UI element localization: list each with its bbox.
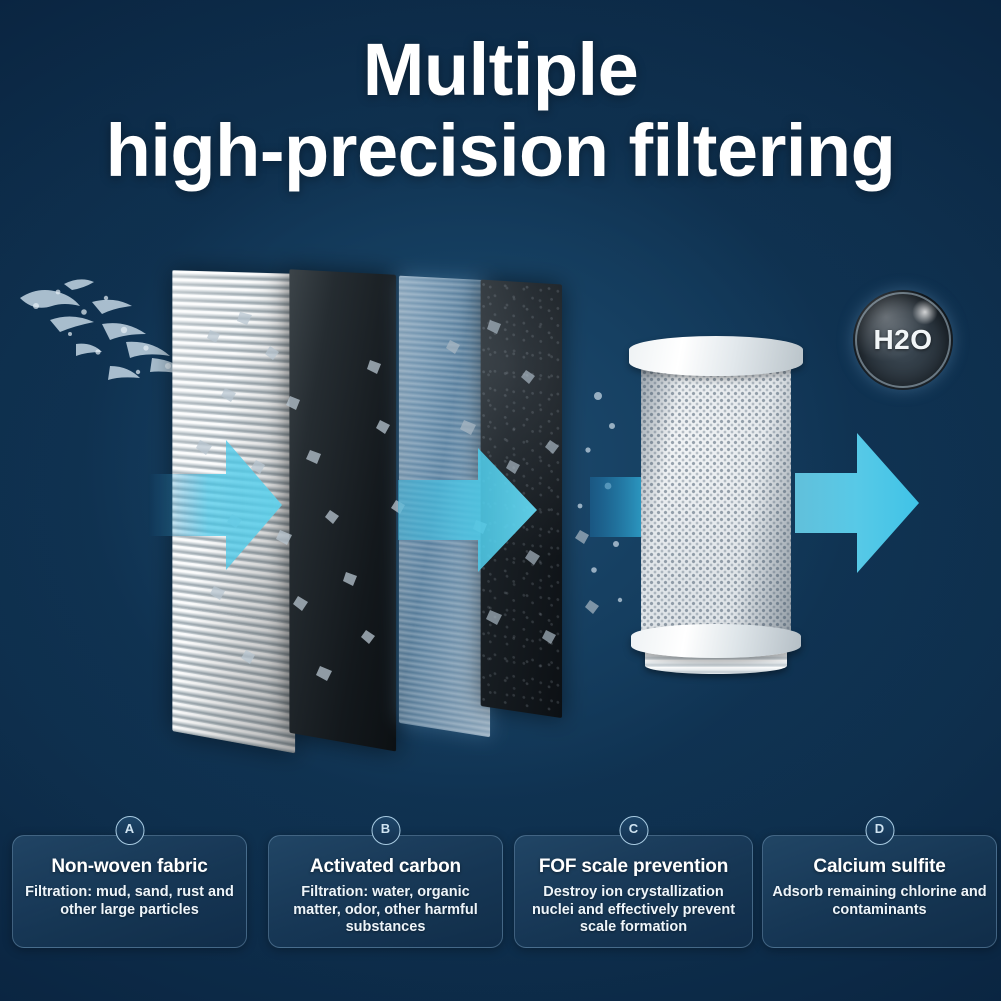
layer-fof-membrane bbox=[399, 276, 490, 738]
card-title-b: Activated carbon bbox=[269, 856, 502, 878]
feature-card-d[interactable]: D Calcium sulfite Adsorb remaining chlor… bbox=[762, 835, 997, 948]
product-infographic: Multiple high-precision filtering bbox=[0, 0, 1001, 1001]
feature-card-c[interactable]: C FOF scale prevention Destroy ion cryst… bbox=[514, 835, 753, 948]
page-title: Multiple high-precision filtering bbox=[0, 34, 1001, 187]
water-droplet-icon: H2O bbox=[853, 290, 953, 390]
card-desc-a: Filtration: mud, sand, rust and other la… bbox=[13, 884, 246, 919]
card-title-d: Calcium sulfite bbox=[763, 856, 996, 878]
feature-card-a[interactable]: A Non-woven fabric Filtration: mud, sand… bbox=[12, 835, 247, 948]
card-badge-c: C bbox=[619, 816, 648, 845]
card-desc-b: Filtration: water, organic matter, odor,… bbox=[269, 884, 502, 937]
layer-activated-carbon-1 bbox=[289, 269, 396, 751]
cartridge-body bbox=[641, 362, 791, 644]
cartridge-bottom-cap bbox=[631, 624, 801, 658]
card-desc-c: Destroy ion crystallization nuclei and e… bbox=[515, 884, 752, 937]
card-desc-d: Adsorb remaining chlorine and contaminan… bbox=[763, 884, 996, 919]
card-badge-b: B bbox=[371, 816, 400, 845]
carbon-block-cartridge bbox=[627, 336, 805, 674]
title-line-2: high-precision filtering bbox=[0, 115, 1001, 188]
card-title-c: FOF scale prevention bbox=[515, 856, 752, 878]
layer-non-woven-pleated bbox=[172, 270, 295, 753]
h2o-label: H2O bbox=[873, 324, 932, 356]
feature-card-b[interactable]: B Activated carbon Filtration: water, or… bbox=[268, 835, 503, 948]
title-line-1: Multiple bbox=[0, 34, 1001, 107]
card-badge-a: A bbox=[115, 816, 144, 845]
cartridge-top-cap bbox=[629, 336, 803, 376]
flow-arrow-4 bbox=[795, 425, 920, 580]
card-badge-d: D bbox=[865, 816, 894, 845]
layer-calcium-sulfite bbox=[481, 280, 562, 719]
feature-cards: A Non-woven fabric Filtration: mud, sand… bbox=[0, 835, 1001, 955]
card-title-a: Non-woven fabric bbox=[13, 856, 246, 878]
